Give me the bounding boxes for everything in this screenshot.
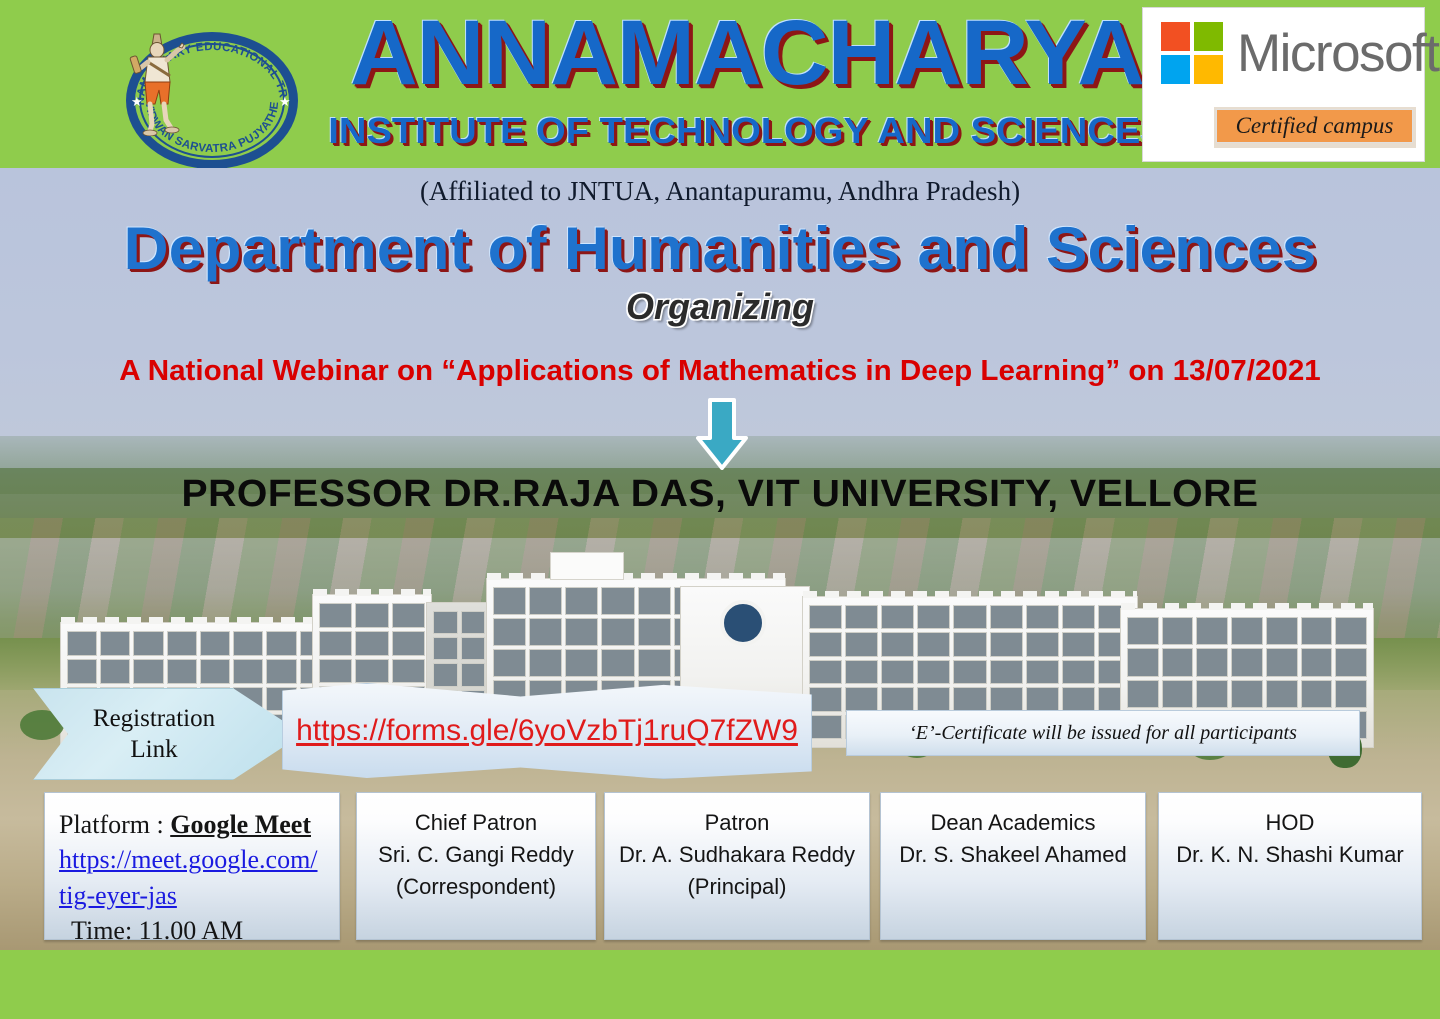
patron-card: Patron Dr. A. Sudhakara Reddy (Principal… bbox=[604, 792, 870, 940]
down-arrow-icon bbox=[696, 398, 748, 470]
chief-patron-card: Chief Patron Sri. C. Gangi Reddy (Corres… bbox=[356, 792, 596, 940]
role-label: Dean Academics bbox=[930, 807, 1095, 839]
role-label: HOD bbox=[1266, 807, 1315, 839]
speaker-name: PROFESSOR DR.RAJA DAS, VIT UNIVERSITY, V… bbox=[0, 473, 1440, 516]
microsoft-certified-badge: Microsoft Certified campus bbox=[1142, 7, 1425, 162]
platform-label: Platform : bbox=[59, 810, 170, 839]
e-certificate-note: ‘E’-Certificate will be issued for all p… bbox=[846, 710, 1360, 756]
registration-url-ribbon: https://forms.gle/6yoVzbTj1ruQ7fZW9 bbox=[282, 683, 812, 779]
institute-subtitle: INSTITUTE OF TECHNOLOGY AND SCIENCES, KA… bbox=[328, 110, 1165, 152]
person-designation: (Correspondent) bbox=[396, 871, 556, 903]
microsoft-squares-icon bbox=[1161, 22, 1223, 84]
certified-campus-label: Certified campus bbox=[1216, 109, 1413, 143]
person-designation: (Principal) bbox=[687, 871, 786, 903]
bottom-card-row: Platform : Google Meet https://meet.goog… bbox=[0, 792, 1440, 942]
person-name: Dr. S. Shakeel Ahamed bbox=[899, 839, 1126, 871]
platform-name: Google Meet bbox=[170, 810, 311, 839]
meet-link-line2[interactable]: tig-eyer-jas bbox=[59, 878, 177, 913]
certified-campus-frame: Certified campus bbox=[1214, 107, 1416, 148]
trust-seal-logo: ANNAMACHARY EDUCATIONAL TRUST VIDWAN SAR… bbox=[126, 32, 298, 168]
microsoft-logo-row: Microsoft bbox=[1161, 22, 1438, 84]
registration-form-link[interactable]: https://forms.gle/6yoVzbTj1ruQ7fZW9 bbox=[296, 714, 798, 748]
registration-label-line1: Registration bbox=[93, 703, 215, 734]
platform-line: Platform : Google Meet bbox=[59, 807, 311, 842]
webinar-title: A National Webinar on “Applications of M… bbox=[0, 355, 1440, 388]
meet-link-line1[interactable]: https://meet.google.com/ bbox=[59, 842, 318, 877]
person-name: Sri. C. Gangi Reddy bbox=[378, 839, 574, 871]
poster-header: ANNAMACHARY EDUCATIONAL TRUST VIDWAN SAR… bbox=[0, 0, 1440, 168]
entrance-dome bbox=[720, 600, 766, 646]
hod-card: HOD Dr. K. N. Shashi Kumar bbox=[1158, 792, 1422, 940]
ms-square-green bbox=[1194, 22, 1223, 51]
person-name: Dr. K. N. Shashi Kumar bbox=[1176, 839, 1403, 871]
roof-water-tank bbox=[550, 552, 624, 580]
organizing-label: Organizing bbox=[0, 286, 1440, 328]
seal-star-right-icon: ★ bbox=[279, 95, 291, 108]
role-label: Patron bbox=[705, 807, 770, 839]
department-title: Department of Humanities and Sciences bbox=[0, 214, 1440, 283]
webinar-time: Time: 11.00 AM bbox=[59, 913, 243, 948]
ms-square-orange bbox=[1161, 22, 1190, 51]
person-name: Dr. A. Sudhakara Reddy bbox=[619, 839, 855, 871]
ms-square-yellow bbox=[1194, 55, 1223, 84]
webinar-poster: ANNAMACHARY EDUCATIONAL TRUST VIDWAN SAR… bbox=[0, 0, 1440, 1019]
role-label: Chief Patron bbox=[415, 807, 537, 839]
ms-square-blue bbox=[1161, 55, 1190, 84]
microsoft-wordmark: Microsoft bbox=[1237, 23, 1438, 84]
institute-name: ANNAMACHARYA bbox=[344, 8, 1150, 98]
dean-academics-card: Dean Academics Dr. S. Shakeel Ahamed bbox=[880, 792, 1146, 940]
affiliation-text: (Affiliated to JNTUA, Anantapuramu, Andh… bbox=[0, 176, 1440, 207]
saint-figure-icon bbox=[126, 32, 188, 136]
registration-label-line2: Link bbox=[130, 734, 177, 765]
platform-card: Platform : Google Meet https://meet.goog… bbox=[44, 792, 340, 940]
